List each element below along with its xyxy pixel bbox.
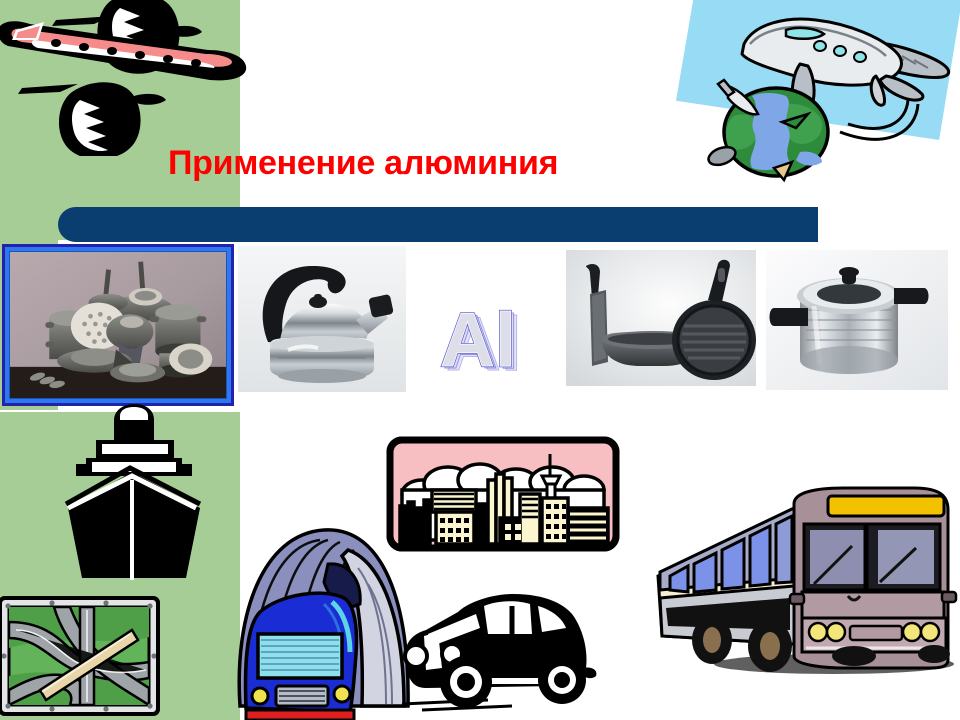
bus-icon [644,468,960,686]
kettle-photo [238,246,406,392]
airplane-propeller-icon [0,0,284,156]
frying-pans-photo [566,250,756,386]
jet-globe-icon [690,4,956,188]
al-wordart: Al Al Al Al [430,296,560,386]
pressure-cooker-photo [766,250,948,390]
dark-blue-title-bar [58,207,818,242]
cookware-photo-inner [9,251,227,399]
cookware-photo [2,244,234,406]
svg-text:Al: Al [440,298,516,383]
vintage-car-icon [392,572,604,714]
slide-canvas: Применение алюминия [0,0,960,720]
highway-interchange-icon [0,592,162,720]
ship-icon [62,404,204,584]
